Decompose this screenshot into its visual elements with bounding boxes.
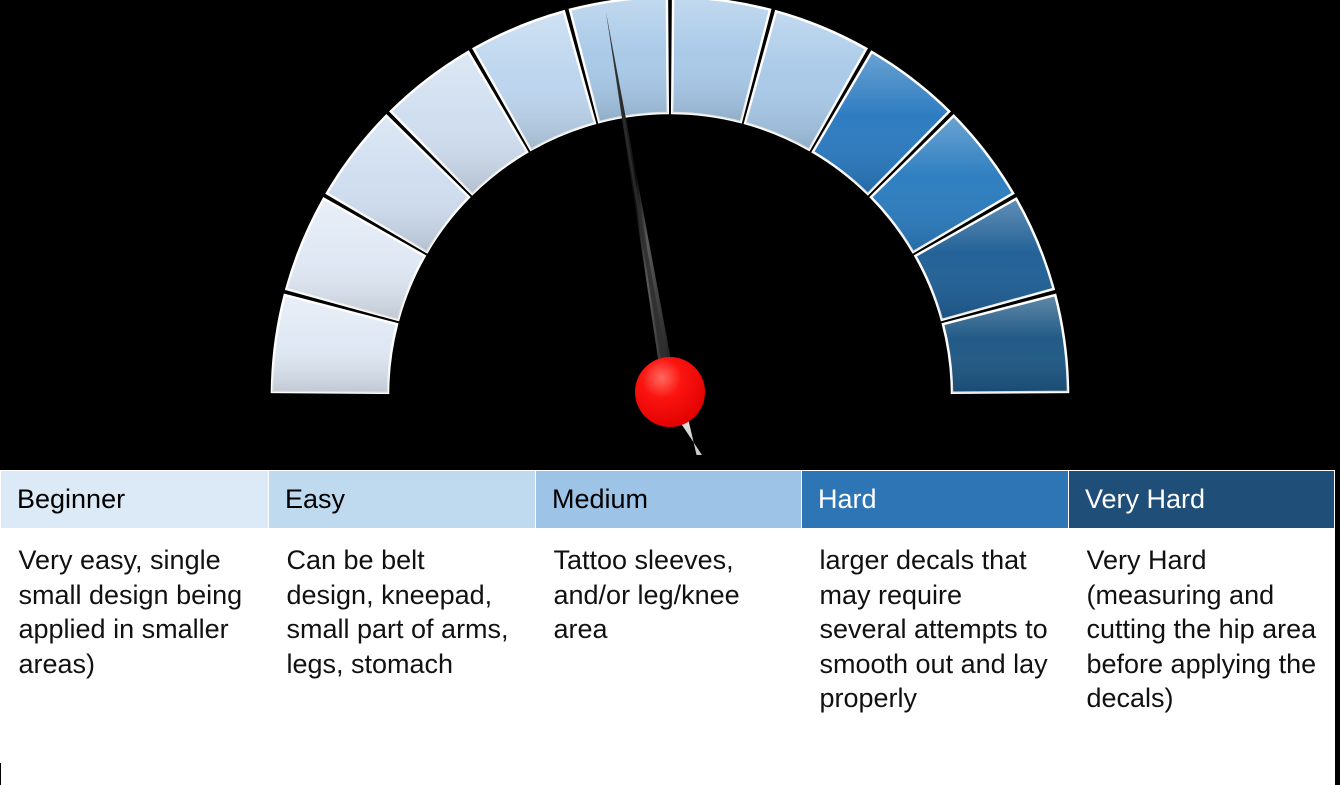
gauge-table-divider — [0, 455, 1340, 471]
header-cell-beginner[interactable]: Beginner — [1, 471, 269, 529]
difficulty-legend-table: Beginner Easy Medium Hard Very Hard Very… — [0, 470, 1335, 785]
gauge-svg — [0, 0, 1340, 470]
header-cell-very-hard[interactable]: Very Hard — [1069, 471, 1335, 529]
needle-tail-below-table — [727, 762, 733, 776]
gauge-hub — [635, 357, 705, 427]
header-cell-easy[interactable]: Easy — [269, 471, 536, 529]
slide-canvas: Beginner Easy Medium Hard Very Hard Very… — [0, 0, 1340, 776]
header-cell-medium[interactable]: Medium — [536, 471, 802, 529]
header-cell-hard[interactable]: Hard — [802, 471, 1069, 529]
body-cell-beginner: Very easy, single small design being app… — [1, 529, 269, 785]
difficulty-table: Beginner Easy Medium Hard Very Hard Very… — [0, 470, 1334, 763]
difficulty-gauge — [0, 0, 1340, 470]
table-header-row: Beginner Easy Medium Hard Very Hard — [1, 471, 1335, 529]
body-cell-very-hard: Very Hard (measuring and cutting the hip… — [1069, 529, 1335, 785]
body-cell-easy: Can be belt design, kneepad, small part … — [269, 529, 536, 785]
body-cell-medium: Tattoo sleeves, and/or leg/knee area — [536, 529, 802, 785]
table-body-row: Very easy, single small design being app… — [1, 529, 1335, 785]
gauge-segments — [272, 0, 1068, 393]
body-cell-hard: larger decals that may require several a… — [802, 529, 1069, 785]
